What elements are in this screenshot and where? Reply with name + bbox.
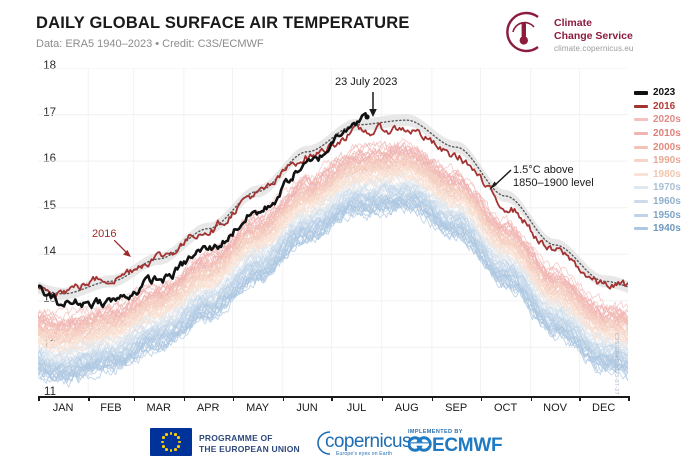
legend-item-1950s[interactable]: 1950s: [634, 208, 690, 222]
c3s-brand-name: Climate Change Service: [554, 17, 633, 42]
legend-label-2010s: 2010s: [653, 128, 681, 139]
legend-label-1950s: 1950s: [653, 210, 681, 221]
copernicus-logo: copernicus Europe's eyes on Earth: [308, 429, 418, 457]
x-tick-label: JAN: [38, 402, 88, 414]
legend-swatch-1940s: [634, 227, 648, 230]
x-tick-mark: [382, 396, 384, 401]
annotation-2016-label: 2016: [92, 228, 116, 240]
side-credit: C3S/ERA5 2023-07-27: [613, 333, 619, 395]
legend-swatch-1960s: [634, 200, 648, 203]
legend-item-2016[interactable]: 2016: [634, 100, 690, 114]
x-tick-label: JUN: [282, 402, 332, 414]
eu-star-icon: [177, 445, 180, 448]
legend-swatch-1980s: [634, 173, 648, 176]
x-tick-label: MAR: [134, 402, 184, 414]
thermometer-in-c-icon: [492, 8, 552, 56]
eu-flag-icon: [150, 428, 192, 456]
eu-programme-line1: PROGRAMME OF: [199, 433, 300, 444]
copernicus-wordmark: copernicus: [325, 431, 411, 453]
c3s-logo: Climate Change Service climate.copernicu…: [492, 8, 682, 60]
legend-item-1990s[interactable]: 1990s: [634, 154, 690, 168]
x-tick-mark: [628, 396, 630, 401]
eu-star-icon: [161, 441, 164, 444]
left-arrow-icon: [487, 168, 513, 192]
x-tick-label: APR: [183, 402, 233, 414]
eu-star-icon: [170, 432, 173, 435]
legend-swatch-1990s: [634, 159, 648, 162]
c3s-url: climate.copernicus.eu: [554, 44, 633, 53]
copernicus-tagline: Europe's eyes on Earth: [336, 451, 392, 457]
x-tick-mark: [283, 396, 285, 401]
c3s-brand-line2: Change Service: [554, 30, 633, 43]
ecmwf-rings-icon: [408, 435, 432, 453]
legend-swatch-2010s: [634, 132, 648, 135]
legend-label-2016: 2016: [653, 101, 675, 112]
page-title: DAILY GLOBAL SURFACE AIR TEMPERATURE: [36, 14, 410, 33]
legend-label-2020s: 2020s: [653, 114, 681, 125]
x-tick-label: JUL: [332, 402, 382, 414]
legend-item-2010s[interactable]: 2010s: [634, 127, 690, 141]
x-tick-label: SEP: [431, 402, 481, 414]
legend-swatch-1950s: [634, 214, 648, 217]
c3s-brand-line1: Climate: [554, 17, 633, 30]
chart-legend: 202320162020s2010s2000s1990s1980s1970s19…: [634, 86, 690, 236]
legend-item-2023[interactable]: 2023: [634, 86, 690, 100]
x-axis-line: [38, 396, 628, 398]
legend-swatch-2023: [634, 91, 648, 95]
eu-star-icon: [174, 433, 177, 436]
eu-star-icon: [177, 436, 180, 439]
down-right-arrow-icon: [114, 240, 136, 260]
down-arrow-icon: [365, 92, 381, 118]
legend-label-2000s: 2000s: [653, 142, 681, 153]
eu-star-icon: [170, 449, 173, 452]
x-tick-mark: [184, 396, 186, 401]
legend-item-2020s[interactable]: 2020s: [634, 113, 690, 127]
legend-label-2023: 2023: [653, 87, 675, 98]
annotation-threshold-line2: 1850–1900 level: [513, 177, 594, 190]
x-tick-mark: [531, 396, 533, 401]
ecmwf-wordmark: ECMWF: [432, 435, 502, 457]
legend-item-1960s[interactable]: 1960s: [634, 195, 690, 209]
x-tick-mark: [481, 396, 483, 401]
eu-programme-text: PROGRAMME OF THE EUROPEAN UNION: [199, 433, 300, 454]
x-tick-mark: [579, 396, 581, 401]
x-tick-mark: [134, 396, 136, 401]
x-tick-mark: [88, 396, 90, 401]
legend-swatch-2000s: [634, 146, 648, 149]
x-tick-label: OCT: [481, 402, 531, 414]
annotation-threshold: 1.5°C above 1850–1900 level: [513, 164, 594, 190]
x-tick-label: AUG: [382, 402, 432, 414]
x-tick-label: FEB: [86, 402, 136, 414]
eu-programme-line2: THE EUROPEAN UNION: [199, 444, 300, 455]
eu-star-icon: [174, 448, 177, 451]
page-subtitle: Data: ERA5 1940–2023 • Credit: C3S/ECMWF: [36, 38, 264, 50]
eu-star-icon: [162, 445, 165, 448]
x-tick-label: MAY: [233, 402, 283, 414]
legend-label-1960s: 1960s: [653, 196, 681, 207]
legend-label-1990s: 1990s: [653, 155, 681, 166]
x-tick-label: NOV: [530, 402, 580, 414]
legend-swatch-2020s: [634, 118, 648, 121]
eu-star-icon: [165, 433, 168, 436]
legend-swatch-2016: [634, 105, 648, 109]
legend-label-1940s: 1940s: [653, 223, 681, 234]
x-tick-mark: [233, 396, 235, 401]
eu-star-icon: [162, 436, 165, 439]
legend-item-1980s[interactable]: 1980s: [634, 168, 690, 182]
footer-logos: PROGRAMME OF THE EUROPEAN UNION copernic…: [0, 424, 690, 461]
legend-label-1980s: 1980s: [653, 169, 681, 180]
legend-label-1970s: 1970s: [653, 182, 681, 193]
plot-area: [38, 68, 628, 394]
x-tick-mark: [38, 396, 40, 401]
annotation-peak-date: 23 July 2023: [335, 76, 397, 89]
x-tick-mark: [432, 396, 434, 401]
x-tick-label: DEC: [579, 402, 629, 414]
legend-item-2000s[interactable]: 2000s: [634, 140, 690, 154]
legend-item-1970s[interactable]: 1970s: [634, 181, 690, 195]
eu-star-icon: [165, 448, 168, 451]
chart-page: DAILY GLOBAL SURFACE AIR TEMPERATURE Dat…: [0, 0, 690, 461]
legend-swatch-1970s: [634, 186, 648, 189]
annotation-threshold-line1: 1.5°C above: [513, 164, 594, 177]
legend-item-1940s[interactable]: 1940s: [634, 222, 690, 236]
eu-star-icon: [178, 441, 181, 444]
x-tick-mark: [331, 396, 333, 401]
